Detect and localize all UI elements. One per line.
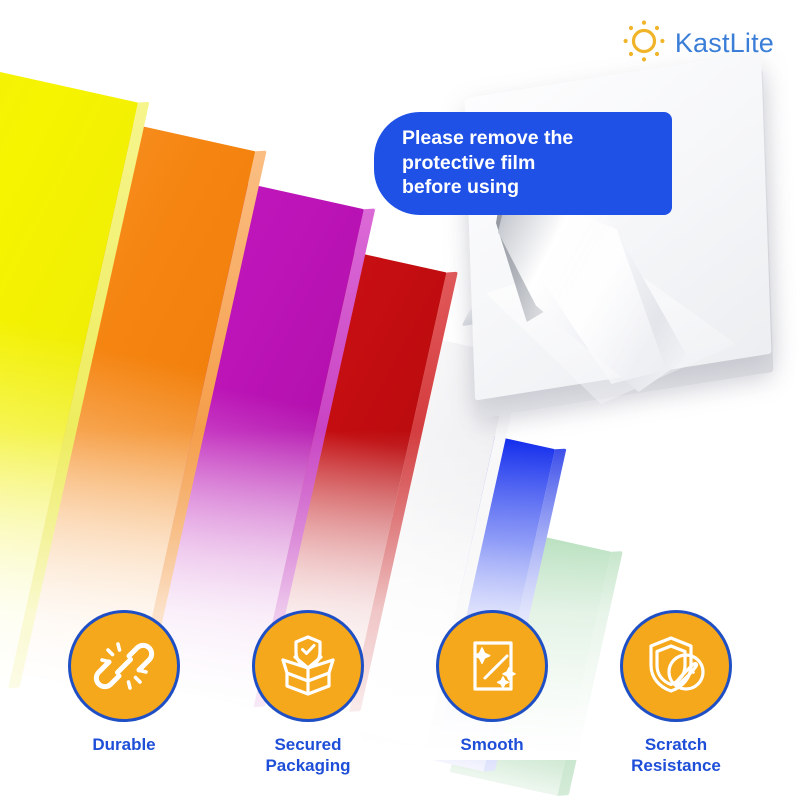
feature-smooth: Smooth	[428, 610, 556, 776]
feature-icon-circle	[620, 610, 732, 722]
shield-knife-icon	[641, 631, 711, 701]
feature-label: Smooth	[460, 735, 523, 755]
feature-durable: Durable	[60, 610, 188, 776]
shield-box-icon	[273, 631, 343, 701]
chain-link-icon	[91, 633, 157, 699]
feature-icon-circle	[252, 610, 364, 722]
feature-label: Durable	[92, 735, 155, 755]
feature-icon-circle	[436, 610, 548, 722]
sun-icon	[621, 18, 667, 69]
feature-label: Scratch Resistance	[631, 735, 721, 776]
feature-icon-circle	[68, 610, 180, 722]
sparkle-panel-icon	[458, 632, 526, 700]
brand-logo: KastLite	[621, 18, 774, 69]
brand-wordmark: KastLite	[675, 28, 774, 59]
callout-text: Please remove the protective film before…	[402, 127, 573, 198]
product-image: KastLite Please remove the protective fi…	[0, 0, 800, 800]
feature-label: Secured Packaging	[265, 735, 350, 776]
feature-scratch-resistance: Scratch Resistance	[612, 610, 740, 776]
feature-list: Durable Secured Packaging	[0, 610, 800, 776]
feature-secured-packaging: Secured Packaging	[244, 610, 372, 776]
protective-film-callout: Please remove the protective film before…	[374, 112, 672, 215]
